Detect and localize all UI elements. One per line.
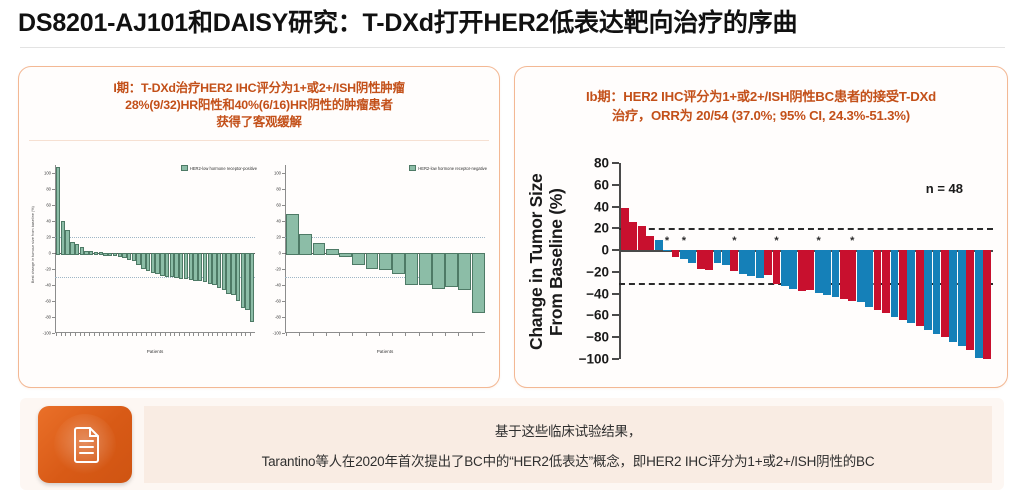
x-tick xyxy=(326,333,339,336)
y-tick-label: 80 xyxy=(46,187,51,192)
bar-fill xyxy=(638,226,646,250)
bar xyxy=(89,251,93,255)
panel-heading-divider xyxy=(29,140,489,141)
bar-fill xyxy=(975,250,983,358)
y-tick xyxy=(282,285,285,286)
bar-fill xyxy=(789,250,797,289)
bar xyxy=(179,253,183,279)
sample-size-annotation: n = 48 xyxy=(926,181,963,196)
bar xyxy=(231,253,235,295)
bar xyxy=(146,253,150,271)
bar xyxy=(61,221,65,255)
bar-fill xyxy=(832,250,840,297)
y-tick xyxy=(52,285,55,286)
bar xyxy=(245,253,249,310)
bar-fill xyxy=(806,250,814,290)
y-tick-label: 20 xyxy=(46,235,51,240)
document-icon xyxy=(38,406,132,483)
bar-fill xyxy=(865,250,873,307)
bar-fill xyxy=(764,250,772,275)
bar xyxy=(366,253,379,269)
bar-fill xyxy=(924,250,932,329)
bar xyxy=(326,249,339,255)
bar xyxy=(70,242,74,255)
bar-fill xyxy=(756,250,764,278)
bar xyxy=(222,253,226,290)
y-tick xyxy=(282,205,285,206)
y-tick-label: -20 xyxy=(275,267,281,272)
bar xyxy=(193,253,197,281)
bar-fill xyxy=(933,250,941,334)
bar xyxy=(189,253,193,280)
bar-fill xyxy=(621,208,629,250)
bar xyxy=(80,247,84,255)
bar-fill xyxy=(891,250,899,316)
y-tick xyxy=(282,301,285,302)
y-tick-label: −20 xyxy=(586,264,609,279)
y-tick-label: 80 xyxy=(276,187,281,192)
x-tick xyxy=(472,333,485,336)
y-tick xyxy=(52,269,55,270)
panel-phase-1: I期：T-DXd治疗HER2 IHC评分为1+或2+/ISH阴性肿瘤 28%(9… xyxy=(18,66,500,388)
bar-fill xyxy=(848,250,856,301)
x-tick xyxy=(419,333,432,336)
bar xyxy=(445,253,458,287)
y-tick-label: -80 xyxy=(45,315,51,320)
x-tick xyxy=(405,333,418,336)
bar xyxy=(132,253,136,261)
bar xyxy=(56,167,60,255)
star-marker: * xyxy=(682,237,686,245)
bar xyxy=(99,252,103,255)
y-tick-label: 60 xyxy=(594,177,609,192)
y-tick xyxy=(52,173,55,174)
y-tick-label: −60 xyxy=(586,308,609,323)
y-tick-label: −80 xyxy=(586,330,609,345)
plot-area: 100806040200-20-40-60-80-100 xyxy=(285,165,485,333)
x-tick xyxy=(432,333,445,336)
bar-fill xyxy=(781,250,789,286)
bar-fill xyxy=(747,250,755,276)
x-tick xyxy=(445,333,458,336)
y-tick-label: -100 xyxy=(273,331,281,336)
bar-fill xyxy=(823,250,831,295)
y-tick-label: 20 xyxy=(594,221,609,236)
y-tick-label: 60 xyxy=(276,203,281,208)
y-tick xyxy=(612,249,619,251)
bar xyxy=(136,253,140,265)
y-tick-label: 60 xyxy=(46,203,51,208)
x-tick-marks xyxy=(56,333,255,337)
y-tick-label: 0 xyxy=(601,243,609,258)
bar-fill xyxy=(949,250,957,341)
panel-phase-1b-heading: Ib期：HER2 IHC评分为1+或2+/ISH阴性BC患者的接受T-DXd 治… xyxy=(515,67,1007,125)
star-marker: * xyxy=(850,237,854,245)
bar xyxy=(122,253,126,258)
heading-line-1: Ib期：HER2 IHC评分为1+或2+/ISH阴性BC患者的接受T-DXd xyxy=(529,87,993,106)
bar xyxy=(165,253,169,277)
x-tick xyxy=(286,333,299,336)
bar xyxy=(118,253,122,257)
bar-fill xyxy=(697,250,705,269)
bar-fill xyxy=(966,250,974,350)
chart-hr-positive-waterfall: Best change in tumour size from baseline… xyxy=(29,161,259,375)
y-tick xyxy=(52,301,55,302)
bar-fill xyxy=(739,250,747,274)
bar xyxy=(379,253,392,270)
chart-legend: HER2-low hormone receptor-positive xyxy=(181,165,257,171)
plot-area: 100806040200-20-40-60-80-100 xyxy=(55,165,255,333)
y-tick-label: −100 xyxy=(579,352,609,367)
bar-fill xyxy=(874,250,882,310)
bar xyxy=(392,253,405,274)
star-marker: * xyxy=(732,237,736,245)
panel-phase-1b: Ib期：HER2 IHC评分为1+或2+/ISH阴性BC患者的接受T-DXd 治… xyxy=(514,66,1008,388)
y-tick xyxy=(612,314,619,316)
bar xyxy=(184,253,188,279)
x-tick xyxy=(299,333,312,336)
bar-fill xyxy=(941,250,949,337)
bar-fill xyxy=(672,250,680,257)
x-tick xyxy=(339,333,352,336)
y-tick-label: -80 xyxy=(275,315,281,320)
bar xyxy=(174,253,178,278)
bar xyxy=(170,253,174,277)
x-tick-marks xyxy=(286,333,485,337)
bar-fill xyxy=(907,250,915,323)
bar xyxy=(226,253,230,294)
star-marker: * xyxy=(816,237,820,245)
bar xyxy=(432,253,445,289)
star-marker: * xyxy=(665,237,669,245)
bar xyxy=(419,253,432,285)
bar-fill xyxy=(840,250,848,299)
bar-fill xyxy=(629,222,637,250)
mini-charts-row: Best change in tumour size from baseline… xyxy=(29,161,489,375)
y-tick xyxy=(612,358,619,360)
bar xyxy=(160,253,164,276)
y-tick-label: 40 xyxy=(276,219,281,224)
x-axis-label: Patients xyxy=(55,349,255,354)
legend-swatch-icon xyxy=(409,165,416,171)
chart-daisy-waterfall: Change in Tumor Size From Baseline (%) 8… xyxy=(523,159,999,381)
x-tick xyxy=(392,333,405,336)
y-tick xyxy=(52,221,55,222)
heading-line-1: I期：T-DXd治疗HER2 IHC评分为1+或2+/ISH阴性肿瘤 xyxy=(35,80,483,97)
bar-fill xyxy=(663,250,671,251)
y-tick-label: -60 xyxy=(45,299,51,304)
bar xyxy=(458,253,471,290)
y-tick-label: 100 xyxy=(274,171,281,176)
x-tick xyxy=(313,333,326,336)
y-tick-label: -40 xyxy=(45,283,51,288)
y-tick xyxy=(52,205,55,206)
y-tick-label: 0 xyxy=(279,251,281,256)
bar-series xyxy=(56,165,255,333)
x-tick xyxy=(352,333,365,336)
bar xyxy=(198,253,202,281)
bar-fill xyxy=(722,250,730,265)
bar xyxy=(155,253,159,274)
y-axis-label: Change in Tumor Size From Baseline (%) xyxy=(525,157,567,367)
y-tick xyxy=(52,333,55,334)
bar xyxy=(241,253,245,308)
x-tick xyxy=(366,333,379,336)
y-tick-label: 40 xyxy=(594,199,609,214)
title-divider xyxy=(20,47,1005,48)
y-tick xyxy=(282,173,285,174)
y-tick xyxy=(282,333,285,334)
bar xyxy=(103,253,107,256)
bar-fill xyxy=(714,250,722,263)
bar-fill xyxy=(916,250,924,326)
y-tick xyxy=(282,189,285,190)
bar-fill xyxy=(983,250,991,359)
chart-hr-negative-waterfall: 100806040200-20-40-60-80-100 HER2-low ho… xyxy=(259,161,489,375)
bar xyxy=(339,253,352,257)
bar-fill xyxy=(655,240,663,250)
y-tick-label: -60 xyxy=(275,299,281,304)
y-tick xyxy=(612,293,619,295)
bar xyxy=(299,234,312,255)
y-tick-label: -40 xyxy=(275,283,281,288)
bar-fill xyxy=(773,250,781,284)
y-tick xyxy=(612,336,619,338)
bar xyxy=(84,251,88,255)
legend-swatch-icon xyxy=(181,165,188,171)
heading-line-3: 获得了客观缓解 xyxy=(35,114,483,131)
bar-fill xyxy=(857,250,865,302)
y-tick xyxy=(52,189,55,190)
panel-phase-1-heading: I期：T-DXd治疗HER2 IHC评分为1+或2+/ISH阴性肿瘤 28%(9… xyxy=(19,67,499,131)
y-tick xyxy=(612,162,619,164)
y-tick xyxy=(612,271,619,273)
bar-fill xyxy=(899,250,907,320)
bar xyxy=(65,230,69,255)
y-axis-label: Best change in tumour size from baseline… xyxy=(27,161,39,329)
bar xyxy=(236,253,240,301)
bar xyxy=(250,253,254,322)
bar xyxy=(151,253,155,273)
bar xyxy=(405,253,418,285)
x-tick xyxy=(458,333,471,336)
bar xyxy=(113,253,117,256)
y-tick xyxy=(612,206,619,208)
conclusion-text: 基于这些临床试验结果， Tarantino等人在2020年首次提出了BC中的“H… xyxy=(144,406,992,483)
conclusion-line-2: Tarantino等人在2020年首次提出了BC中的“HER2低表达”概念，即H… xyxy=(262,450,875,470)
bar-fill xyxy=(705,250,713,270)
page-title: DS8201-AJ101和DAISY研究：T-DXd打开HER2低表达靶向治疗的… xyxy=(18,6,1008,40)
y-tick-label: −40 xyxy=(586,286,609,301)
y-tick xyxy=(282,269,285,270)
bar xyxy=(212,253,216,285)
y-tick-label: 80 xyxy=(594,156,609,171)
y-tick xyxy=(612,227,619,229)
heading-line-2: 治疗，ORR为 20/54 (37.0%; 95% CI, 24.3%-51.3… xyxy=(529,106,993,125)
y-tick-label: -20 xyxy=(45,267,51,272)
y-tick-label: 100 xyxy=(44,171,51,176)
chart-legend: HER2-low hormone receptor-negative xyxy=(409,165,487,171)
bar-fill xyxy=(882,250,890,313)
x-tick xyxy=(379,333,392,336)
bar-fill xyxy=(958,250,966,346)
icon-halo xyxy=(54,414,116,476)
y-tick xyxy=(282,221,285,222)
bar xyxy=(472,253,485,313)
bar xyxy=(352,253,365,265)
star-marker: * xyxy=(774,237,778,245)
y-tick xyxy=(282,317,285,318)
bar xyxy=(127,253,131,260)
bar-series xyxy=(286,165,485,333)
bar xyxy=(75,244,79,255)
y-tick-label: -100 xyxy=(43,331,51,336)
bar xyxy=(217,253,221,288)
bar xyxy=(94,252,98,255)
bar-fill xyxy=(798,250,806,291)
x-tick xyxy=(250,333,255,336)
bar xyxy=(208,253,212,284)
y-tick-label: 40 xyxy=(46,219,51,224)
legend-label: HER2-low hormone receptor-positive xyxy=(190,166,257,171)
x-axis-label: Patients xyxy=(285,349,485,354)
conclusion-line-1: 基于这些临床试验结果， xyxy=(495,420,641,440)
bar-fill xyxy=(688,250,696,263)
bar xyxy=(108,253,112,256)
bar-fill xyxy=(815,250,823,292)
bar xyxy=(286,214,299,255)
y-tick-label: 0 xyxy=(49,251,51,256)
legend-label: HER2-low hormone receptor-negative xyxy=(418,166,487,171)
bar xyxy=(313,243,326,255)
y-tick-label: 20 xyxy=(276,235,281,240)
heading-line-2: 28%(9/32)HR阳性和40%(6/16)HR阴性的肿瘤患者 xyxy=(35,97,483,114)
bar xyxy=(203,253,207,282)
y-tick xyxy=(612,184,619,186)
y-tick xyxy=(52,317,55,318)
bar-fill xyxy=(646,236,654,250)
bar-fill xyxy=(730,250,738,271)
bar-fill xyxy=(680,250,688,259)
bar xyxy=(141,253,145,269)
